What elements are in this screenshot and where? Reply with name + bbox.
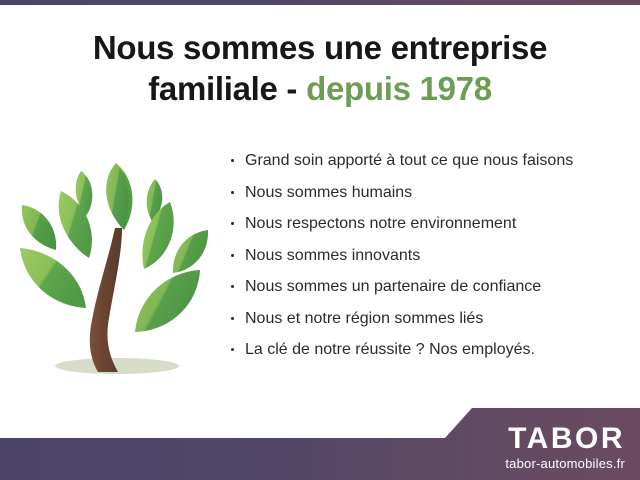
list-item-label: Nous respectons notre environnement (245, 215, 516, 232)
leaf-mid-left-far (22, 205, 56, 250)
leaf-lower-right (135, 270, 200, 332)
benefits-list: Grand soin apporté à tout ce que nous fa… (230, 150, 630, 371)
bullet-dot-icon (231, 254, 234, 257)
brand-logo[interactable]: TABOR tabor-automobiles.fr (505, 423, 625, 472)
leaf-mid-right (142, 202, 173, 269)
leaf-lower-left (20, 248, 86, 308)
list-item-label: Grand soin apporté à tout ce que nous fa… (245, 152, 573, 169)
list-item: Nous respectons notre environnement (230, 213, 630, 234)
list-item: Nous sommes un partenaire de confiance (230, 276, 630, 297)
bullet-dot-icon (231, 222, 234, 225)
headline-line-2: familiale -depuis 1978 (0, 68, 640, 109)
leaf-upper-center-right (106, 163, 129, 230)
list-item: Nous sommes innovants (230, 245, 630, 266)
list-item-label: Nous sommes innovants (245, 247, 420, 264)
bullet-dot-icon (231, 348, 234, 351)
list-item-label: Nous sommes un partenaire de confiance (245, 278, 541, 295)
leaf-mid-right-far (173, 230, 208, 273)
brand-tagline: tabor-automobiles.fr (505, 456, 625, 472)
list-item: Nous sommes humains (230, 182, 630, 203)
bullet-dot-icon (231, 285, 234, 288)
headline-line-1: Nous sommes une entreprise (0, 27, 640, 68)
tree-illustration (12, 148, 222, 388)
list-item-label: Nous sommes humains (245, 184, 412, 201)
top-accent-strip (0, 0, 640, 5)
list-item-label: La clé de notre réussite ? Nos employés. (245, 341, 535, 358)
bullet-dot-icon (231, 191, 234, 194)
page-title: Nous sommes une entreprise familiale -de… (0, 27, 640, 109)
bullet-dot-icon (231, 159, 234, 162)
list-item: Nous et notre région sommes liés (230, 308, 630, 329)
list-item: La clé de notre réussite ? Nos employés. (230, 339, 630, 360)
tree-trunk (90, 228, 122, 372)
brand-name: TABOR (505, 423, 625, 455)
headline-line-2-black: familiale - (148, 70, 297, 107)
headline-line-2-accent: depuis 1978 (306, 70, 492, 107)
list-item-label: Nous et notre région sommes liés (245, 310, 483, 327)
list-item: Grand soin apporté à tout ce que nous fa… (230, 150, 630, 171)
bullet-dot-icon (231, 317, 234, 320)
slide-canvas: Nous sommes une entreprise familiale -de… (0, 0, 640, 480)
